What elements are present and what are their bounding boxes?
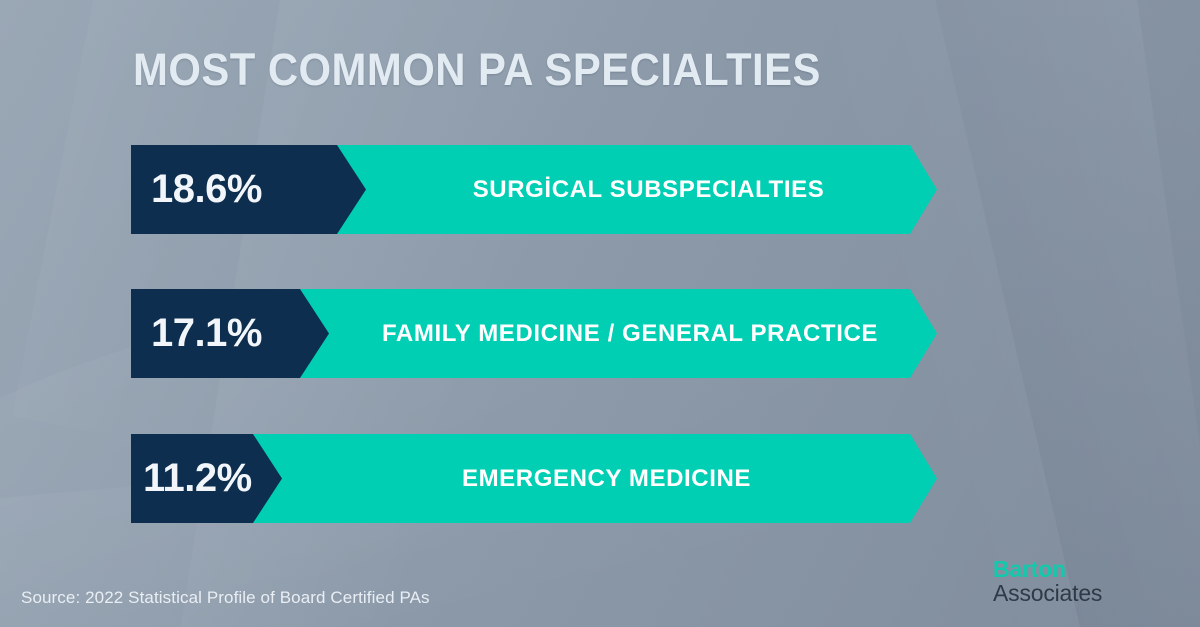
barton-associates-logo: Barton Associates [993, 557, 1102, 606]
bar-label: SURGİCAL SUBSPECIALTIES [376, 145, 921, 234]
bar-percent: 11.2% [143, 434, 252, 523]
bar-row: 17.1% FAMILY MEDICINE / GENERAL PRACTICE [131, 289, 941, 378]
page-title: MOST COMMON PA SPECIALTIES [133, 44, 821, 96]
background-streak [903, 0, 1200, 627]
logo-word-barton: Barton [993, 557, 1102, 581]
bar-label: EMERGENCY MEDICINE [292, 434, 921, 523]
background-streak [0, 226, 1017, 627]
infographic-canvas: MOST COMMON PA SPECIALTIES 18.6% SURGİCA… [0, 0, 1200, 627]
source-note: Source: 2022 Statistical Profile of Boar… [21, 588, 430, 608]
bar-row: 18.6% SURGİCAL SUBSPECIALTIES [131, 145, 941, 234]
bar-label: FAMILY MEDICINE / GENERAL PRACTICE [339, 289, 921, 378]
logo-word-associates: Associates [993, 581, 1102, 605]
bar-row: 11.2% EMERGENCY MEDICINE [131, 434, 941, 523]
bar-percent: 17.1% [151, 289, 262, 378]
bar-percent: 18.6% [151, 145, 262, 234]
